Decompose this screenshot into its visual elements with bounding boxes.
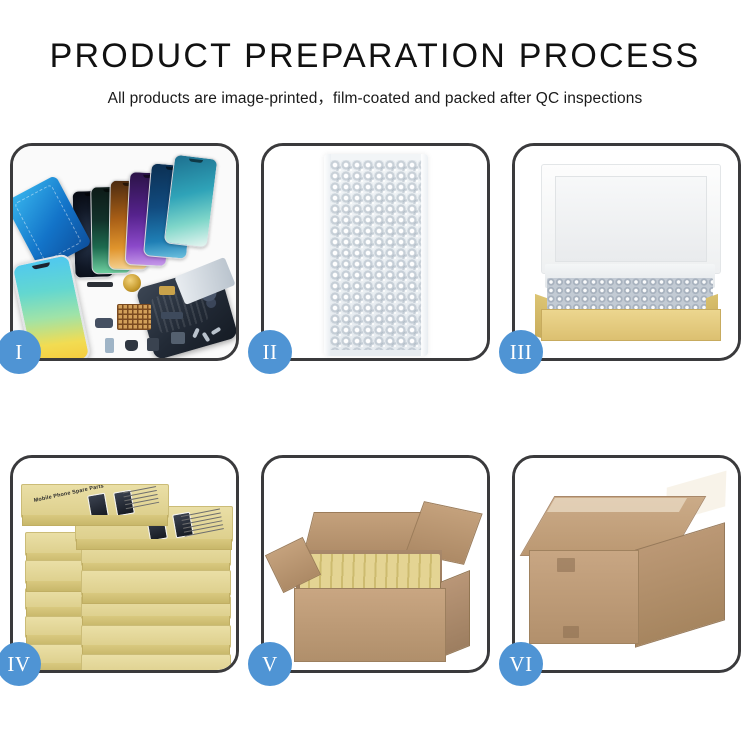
stacked-box-bottom-right-3 bbox=[81, 654, 231, 670]
ribbon-connector-icon bbox=[161, 312, 183, 319]
step-badge-1: I bbox=[0, 330, 41, 374]
speaker-part-icon bbox=[125, 340, 138, 351]
carton-handle-tab-2 bbox=[563, 626, 579, 638]
phone-thumbnail-icon-3 bbox=[87, 493, 109, 517]
step-badge-6: VI bbox=[499, 642, 543, 686]
bracket-part-icon bbox=[171, 332, 185, 344]
step-panel-6: VI bbox=[512, 455, 741, 673]
printed-box-lid-back: Mobile Phone Spare Parts bbox=[21, 484, 169, 518]
box-stack: Mobile Phone Spare Parts Mobile Phon bbox=[19, 484, 235, 664]
packing-tape-icon bbox=[547, 498, 687, 512]
step-panel-2: II bbox=[261, 143, 490, 361]
step-4-image: Mobile Phone Spare Parts Mobile Phon bbox=[13, 458, 236, 670]
step-6-image bbox=[515, 458, 738, 670]
step-panel-5: V bbox=[261, 455, 490, 673]
screws-group-icon bbox=[194, 326, 224, 348]
step-3-image bbox=[515, 146, 738, 358]
process-steps-grid: I II III bbox=[10, 143, 740, 673]
lid-artwork-back: Mobile Phone Spare Parts bbox=[22, 485, 168, 517]
battery-part-icon bbox=[105, 338, 114, 353]
step-panel-3: III bbox=[512, 143, 741, 361]
stacked-box-bottom-right-2 bbox=[81, 625, 231, 648]
step-1-image bbox=[13, 146, 236, 358]
gold-contact-icon bbox=[159, 286, 175, 295]
bubble-wrapped-contents-icon bbox=[547, 278, 713, 312]
step-panel-1: I bbox=[10, 143, 239, 361]
step-badge-4: IV bbox=[0, 642, 41, 686]
spec-lines-front bbox=[180, 509, 225, 541]
connector-grid-icon bbox=[117, 304, 151, 330]
camera-module-icon bbox=[147, 338, 159, 351]
wrap-edge-right bbox=[421, 154, 428, 356]
copper-coil-icon bbox=[123, 274, 141, 292]
header: PRODUCT PREPARATION PROCESS All products… bbox=[0, 0, 750, 108]
kraft-boxes-inside-icon bbox=[300, 554, 440, 592]
step-badge-3: III bbox=[499, 330, 543, 374]
carton-handle-tab-1 bbox=[557, 558, 575, 572]
infographic-page: PRODUCT PREPARATION PROCESS All products… bbox=[0, 0, 750, 750]
page-subtitle: All products are image-printed，film-coat… bbox=[0, 86, 750, 108]
step-5-image bbox=[264, 458, 487, 670]
step-badge-5: V bbox=[248, 642, 292, 686]
phone-screen-teal-icon bbox=[164, 154, 219, 249]
bubble-pattern bbox=[330, 160, 422, 350]
spec-lines-back bbox=[123, 486, 162, 517]
bubble-wrap-sheet-icon bbox=[324, 154, 428, 356]
carton-front-face bbox=[294, 588, 446, 662]
step-badge-2: II bbox=[248, 330, 292, 374]
step-panel-4: Mobile Phone Spare Parts Mobile Phon bbox=[10, 455, 239, 673]
phone-lineup bbox=[73, 154, 236, 262]
spare-part-icon bbox=[95, 318, 113, 328]
sealed-carton-front-face bbox=[529, 550, 639, 644]
step-2-image bbox=[264, 146, 487, 358]
page-title: PRODUCT PREPARATION PROCESS bbox=[0, 38, 750, 75]
flex-cable-icon bbox=[87, 282, 113, 287]
box-lid-fold bbox=[555, 176, 707, 262]
stacked-box-mid-right-2 bbox=[81, 570, 231, 596]
kraft-box-front bbox=[541, 309, 721, 341]
